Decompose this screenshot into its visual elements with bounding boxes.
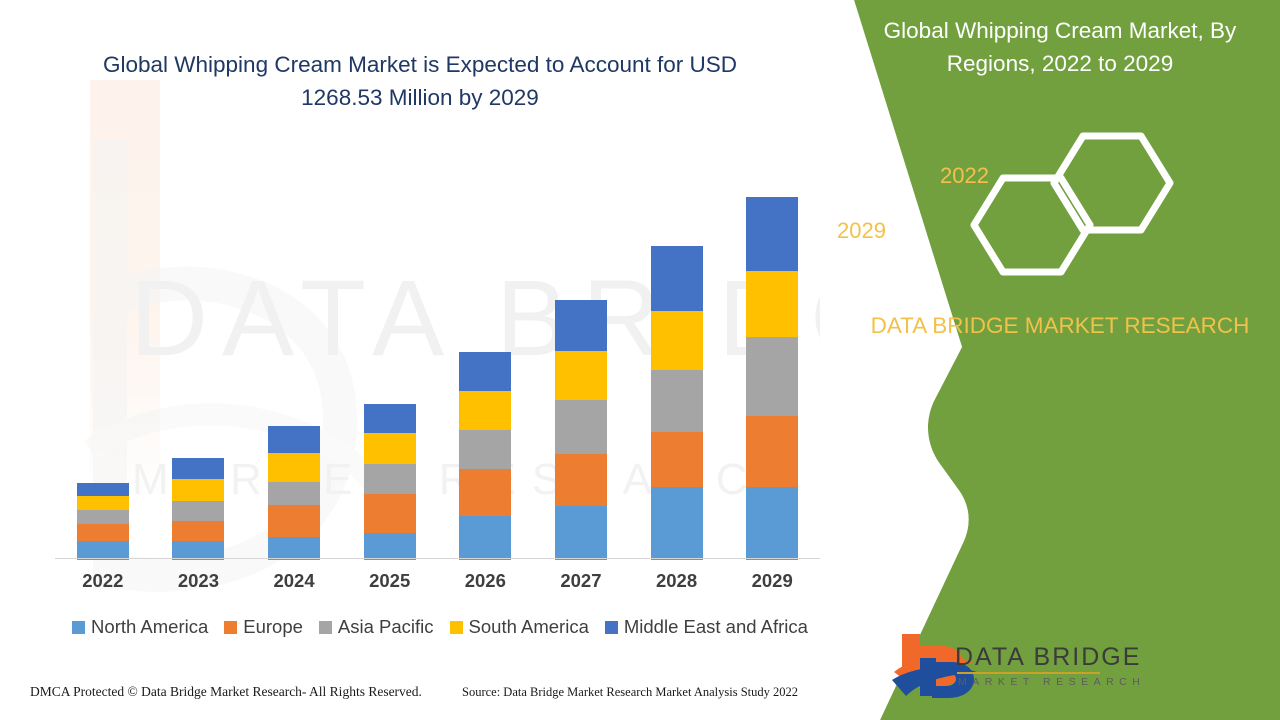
legend-swatch-icon [72,621,85,634]
bar-segment [172,521,224,542]
bar-segment [268,482,320,505]
bar-segment [459,352,511,391]
bar-segment [746,197,798,271]
stacked-bar-2025 [364,404,416,560]
legend-label: Europe [243,616,303,638]
hexagon-pair [965,130,1195,285]
legend-item[interactable]: Middle East and Africa [605,616,808,638]
legend-item[interactable]: North America [72,616,208,638]
x-axis-label-2023: 2023 [153,570,243,592]
bar-segment [555,506,607,560]
bar-group [55,150,820,560]
logo-tagline: MARKET RESEARCH [958,676,1145,688]
logo-divider [957,672,1100,674]
legend-item[interactable]: Europe [224,616,303,638]
bar-segment [651,487,703,560]
x-axis-label-2024: 2024 [249,570,339,592]
bar-segment [77,496,129,511]
x-axis-label-2028: 2028 [632,570,722,592]
legend-item[interactable]: South America [450,616,589,638]
hexagon-label-far: 2022 [940,163,989,189]
branding-panel: Global Whipping Cream Market, By Regions… [820,0,1280,720]
stacked-bar-2022 [77,483,129,560]
legend-swatch-icon [224,621,237,634]
bar-segment [746,487,798,560]
legend-label: South America [469,616,589,638]
legend-item[interactable]: Asia Pacific [319,616,434,638]
stacked-bar-2028 [651,246,703,560]
legend-label: Asia Pacific [338,616,434,638]
bar-segment [268,505,320,536]
bar-segment [459,469,511,516]
x-axis-label-2027: 2027 [536,570,626,592]
stacked-bar-2023 [172,458,224,560]
hexagon-2022 [1054,136,1170,230]
logo-wordmark: DATA BRIDGE [955,643,1141,672]
bar-segment [555,400,607,454]
x-axis-line [55,558,820,559]
bar-segment [77,524,129,542]
bar-segment [746,271,798,337]
plot-area [55,150,820,560]
bar-segment [77,510,129,524]
bar-segment [555,300,607,351]
bar-segment [746,416,798,487]
bar-segment [555,351,607,400]
legend-label: Middle East and Africa [624,616,808,638]
bar-segment [459,430,511,469]
brand-name: DATA BRIDGE MARKET RESEARCH [860,310,1260,341]
bar-segment [651,246,703,311]
copyright-text: DMCA Protected © Data Bridge Market Rese… [30,684,422,700]
stacked-bar-2026 [459,352,511,560]
x-axis-label-2026: 2026 [440,570,530,592]
stacked-bar-2027 [555,300,607,560]
bar-segment [364,404,416,433]
x-axis-label-2022: 2022 [58,570,148,592]
stacked-bar-2024 [268,426,320,560]
x-axis-labels: 20222023202420252026202720282029 [55,570,820,598]
bar-segment [555,454,607,507]
legend-swatch-icon [319,621,332,634]
chart-page: DATA BRIDGE MARKET RESEARCH Global Whipp… [0,0,1280,720]
bar-segment [459,516,511,560]
bar-segment [172,479,224,501]
stacked-bar-2029 [746,197,798,560]
bar-segment [268,426,320,452]
bar-segment [77,483,129,496]
chart-legend: North AmericaEuropeAsia PacificSouth Ame… [55,616,825,638]
bar-segment [364,464,416,493]
bar-segment [172,501,224,521]
x-axis-label-2025: 2025 [345,570,435,592]
bar-segment [651,311,703,370]
bar-segment [172,458,224,479]
bar-segment [746,337,798,415]
bar-segment [651,370,703,432]
chart-title: Global Whipping Cream Market is Expected… [60,48,780,114]
source-text: Source: Data Bridge Market Research Mark… [462,685,798,700]
bar-segment [651,432,703,487]
hexagon-label-near: 2029 [837,218,886,244]
bar-segment [268,453,320,482]
bar-segment [268,537,320,560]
panel-title: Global Whipping Cream Market, By Regions… [860,14,1260,80]
bar-segment [364,494,416,533]
legend-label: North America [91,616,208,638]
legend-swatch-icon [450,621,463,634]
x-axis-label-2029: 2029 [727,570,817,592]
bar-segment [459,391,511,430]
bar-segment [364,433,416,464]
bar-segment [364,533,416,560]
legend-swatch-icon [605,621,618,634]
hexagon-2029 [974,178,1090,272]
